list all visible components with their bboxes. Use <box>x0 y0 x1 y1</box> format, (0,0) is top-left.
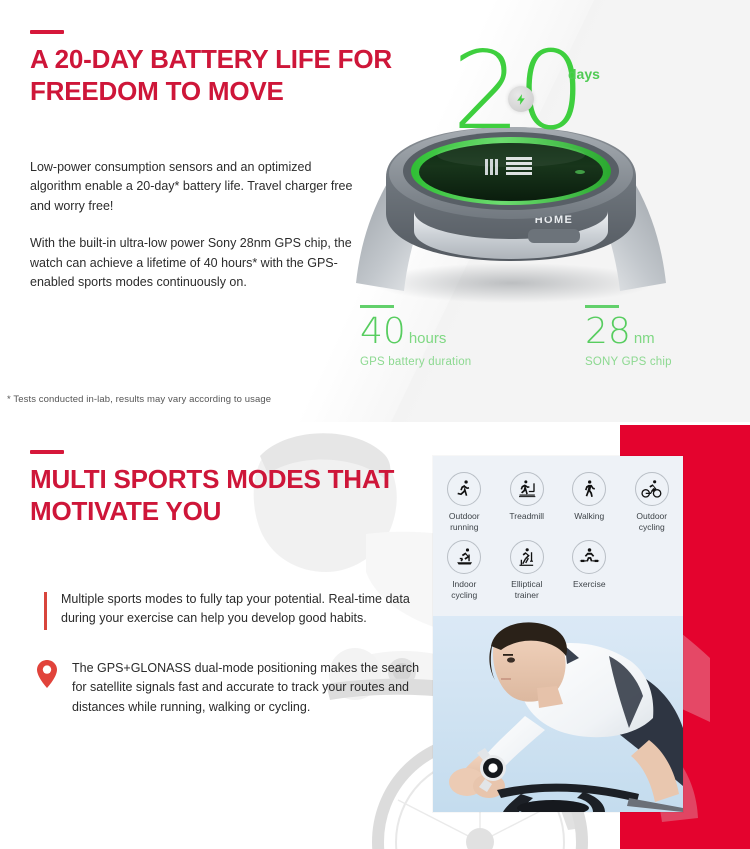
stat-accent-bar <box>585 305 619 308</box>
battery-paragraph-1: Low-power consumption sensors and an opt… <box>30 158 360 216</box>
sport-mode-outdoor-running[interactable]: Outdoor running <box>433 472 496 532</box>
stat-unit: hours <box>409 330 447 347</box>
heading-accent-bar <box>30 450 64 454</box>
sport-mode-label: Exercise <box>573 579 606 590</box>
sport-mode-empty-slot <box>621 540 684 600</box>
battery-paragraph-2: With the built-in ultra-low power Sony 2… <box>30 234 360 292</box>
elliptical-trainer-icon <box>510 540 544 574</box>
sports-bullet-2-text: The GPS+GLONASS dual-mode positioning ma… <box>72 659 421 717</box>
stat-caption: GPS battery duration <box>360 356 471 368</box>
red-bar-marker <box>44 592 47 630</box>
sport-mode-exercise[interactable]: Exercise <box>558 540 621 600</box>
sport-mode-label: Outdoor cycling <box>636 511 667 532</box>
stat-unit: nm <box>634 330 655 347</box>
sport-mode-walking[interactable]: Walking <box>558 472 621 532</box>
hero-number: 20 <box>452 42 682 141</box>
panel-cyclist-photo <box>433 616 683 812</box>
sports-modes-section: MULTI SPORTS MODES THAT MOTIVATE YOU Mul… <box>0 422 750 849</box>
battery-life-section: HOME 20 days <box>0 0 750 422</box>
sports-bullet-2: The GPS+GLONASS dual-mode positioning ma… <box>36 659 421 717</box>
stat-value: 28 <box>585 314 631 350</box>
sports-bullet-1-text: Multiple sports modes to fully tap your … <box>61 590 414 629</box>
hero-battery-days: 20 days <box>452 42 682 154</box>
exercise-icon <box>572 540 606 574</box>
sport-mode-label: Indoor cycling <box>451 579 477 600</box>
sport-mode-outdoor-cycling[interactable]: Outdoor cycling <box>621 472 684 532</box>
page-title: A 20-DAY BATTERY LIFE FOR FREEDOM TO MOV… <box>30 44 392 107</box>
stat-caption: SONY GPS chip <box>585 356 672 368</box>
sports-bullet-1: Multiple sports modes to fully tap your … <box>44 590 414 630</box>
sport-mode-treadmill[interactable]: Treadmill <box>496 472 559 532</box>
stat-accent-bar <box>360 305 394 308</box>
heading-accent-bar <box>30 30 64 34</box>
sport-mode-label: Elliptical trainer <box>511 579 542 600</box>
outdoor-running-icon <box>447 472 481 506</box>
stat-value: 40 <box>360 314 406 350</box>
location-pin-icon <box>36 659 58 694</box>
walking-icon <box>572 472 606 506</box>
sport-mode-label: Walking <box>574 511 604 522</box>
stat-sony-gps-chip: 28 nm SONY GPS chip <box>585 305 672 368</box>
indoor-cycling-icon <box>447 540 481 574</box>
stat-gps-battery-duration: 40 hours GPS battery duration <box>360 305 471 368</box>
sport-mode-label: Treadmill <box>509 511 544 522</box>
sports-modes-panel: Outdoor running Treadmill <box>433 456 683 812</box>
sport-mode-grid: Outdoor running Treadmill <box>433 472 683 601</box>
battery-footnote: * Tests conducted in-lab, results may va… <box>7 394 271 405</box>
battery-charge-icon <box>508 86 534 112</box>
sport-mode-label: Outdoor running <box>449 511 480 532</box>
sport-mode-elliptical-trainer[interactable]: Elliptical trainer <box>496 540 559 600</box>
outdoor-cycling-icon <box>635 472 669 506</box>
sports-title: MULTI SPORTS MODES THAT MOTIVATE YOU <box>30 464 394 527</box>
treadmill-icon <box>510 472 544 506</box>
hero-unit-label: days <box>568 66 600 82</box>
sport-mode-indoor-cycling[interactable]: Indoor cycling <box>433 540 496 600</box>
